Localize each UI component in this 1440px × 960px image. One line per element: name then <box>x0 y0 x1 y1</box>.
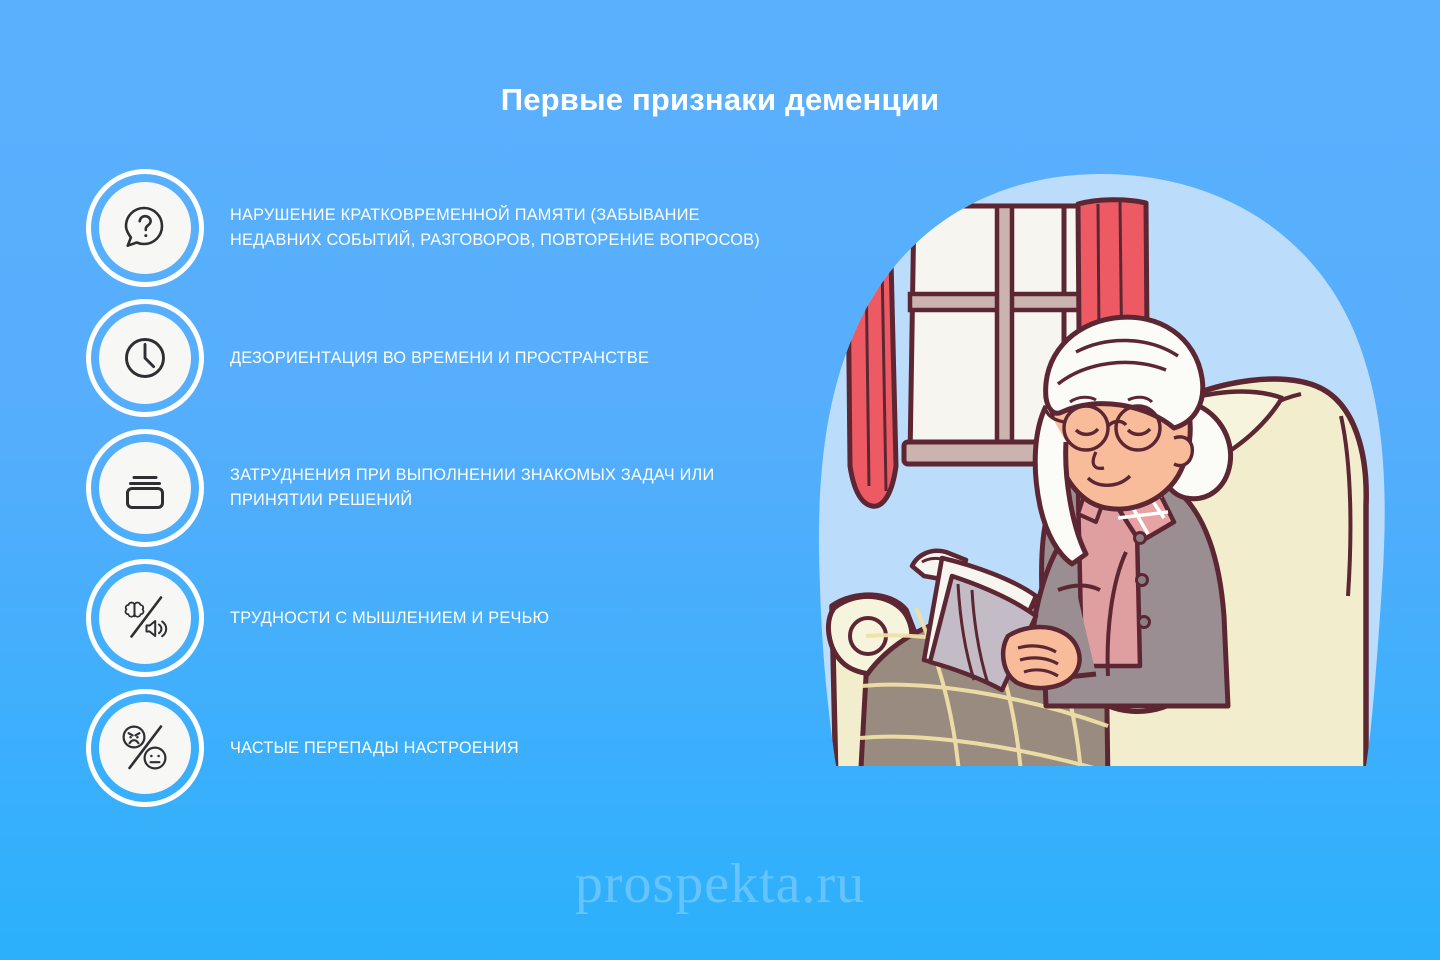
clock-icon <box>117 330 173 386</box>
symptom-label: ЗАТРУДНЕНИЯ ПРИ ВЫПОЛНЕНИИ ЗНАКОМЫХ ЗАДА… <box>230 463 786 513</box>
symptom-label: ДЕЗОРИЕНТАЦИЯ ВО ВРЕМЕНИ И ПРОСТРАНСТВЕ <box>230 346 649 371</box>
symptom-icon-badge <box>86 299 204 417</box>
hand <box>1003 627 1079 688</box>
stacked-cards-icon <box>117 460 173 516</box>
symptom-label: НАРУШЕНИЕ КРАТКОВРЕМЕННОЙ ПАМЯТИ (ЗАБЫВА… <box>230 203 786 253</box>
symptom-icon-badge <box>86 689 204 807</box>
speech-bubble-question-icon <box>117 200 173 256</box>
curtain-left <box>848 259 896 506</box>
symptom-icon-badge <box>86 169 204 287</box>
badge-disc <box>99 442 191 534</box>
infographic-poster: Первые признаки деменции НАРУШЕНИЕ КРАТК… <box>0 0 1440 960</box>
brain-muted-speaker-icon <box>114 587 176 649</box>
badge-disc <box>99 702 191 794</box>
list-item: НАРУШЕНИЕ КРАТКОВРЕМЕННОЙ ПАМЯТИ (ЗАБЫВА… <box>86 163 786 293</box>
list-item: ЗАТРУДНЕНИЯ ПРИ ВЫПОЛНЕНИИ ЗНАКОМЫХ ЗАДА… <box>86 423 786 553</box>
badge-disc <box>99 572 191 664</box>
list-item: ТРУДНОСТИ С МЫШЛЕНИЕМ И РЕЧЬЮ <box>86 553 786 683</box>
elderly-woman-reading-illustration <box>796 166 1406 776</box>
badge-disc <box>99 312 191 404</box>
page-title: Первые признаки деменции <box>0 82 1440 118</box>
list-item: ЧАСТЫЕ ПЕРЕПАДЫ НАСТРОЕНИЯ <box>86 683 786 813</box>
list-item: ДЕЗОРИЕНТАЦИЯ ВО ВРЕМЕНИ И ПРОСТРАНСТВЕ <box>86 293 786 423</box>
watermark: prospekta.ru <box>0 852 1440 916</box>
symptom-list: НАРУШЕНИЕ КРАТКОВРЕМЕННОЙ ПАМЯТИ (ЗАБЫВА… <box>86 163 786 813</box>
symptom-icon-badge <box>86 559 204 677</box>
symptom-icon-badge <box>86 429 204 547</box>
symptom-label: ТРУДНОСТИ С МЫШЛЕНИЕМ И РЕЧЬЮ <box>230 606 549 631</box>
symptom-label: ЧАСТЫЕ ПЕРЕПАДЫ НАСТРОЕНИЯ <box>230 736 519 761</box>
angry-neutral-faces-icon <box>114 717 176 779</box>
badge-disc <box>99 182 191 274</box>
